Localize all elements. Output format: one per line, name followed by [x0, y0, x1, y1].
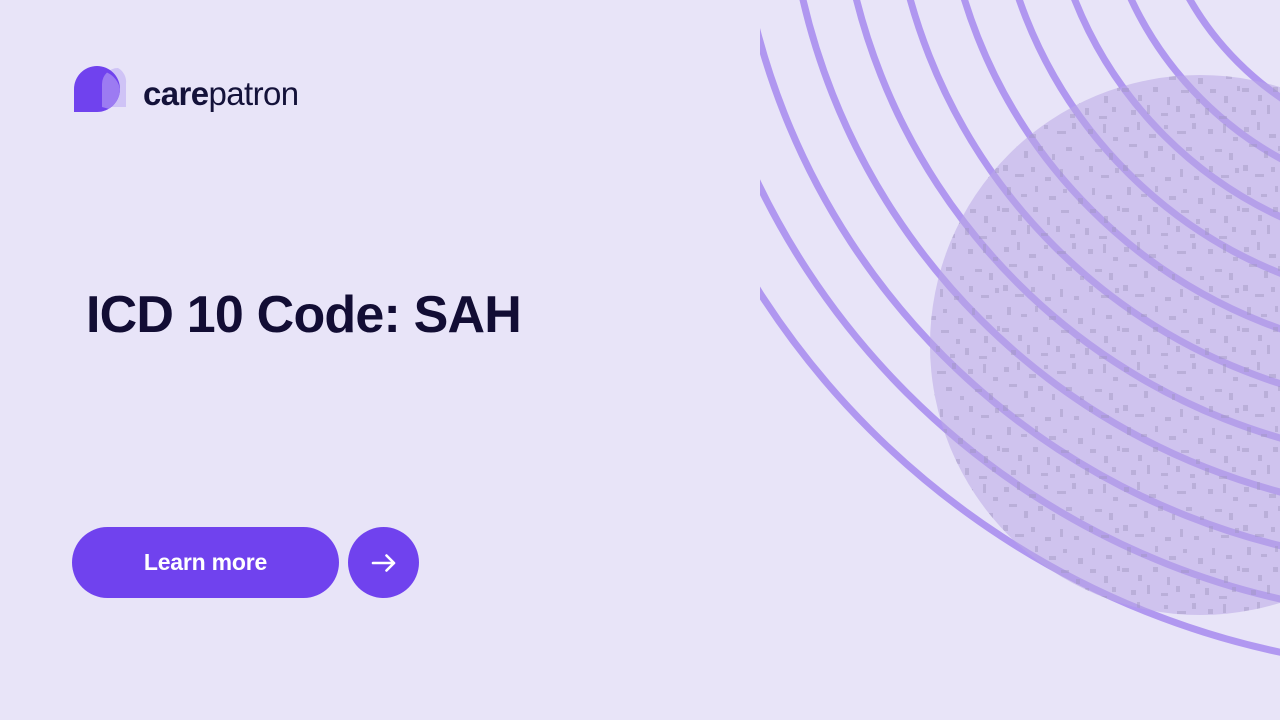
- carepatron-logo-mark-icon: [72, 64, 130, 120]
- brand-wordmark: carepatron: [143, 77, 299, 110]
- promo-banner: carepatron ICD 10 Code: SAH Learn more: [0, 0, 1280, 720]
- decorative-artwork: [760, 0, 1280, 720]
- wordmark-light: patron: [209, 75, 299, 112]
- cta-group: Learn more: [72, 527, 419, 598]
- page-title: ICD 10 Code: SAH: [86, 285, 726, 346]
- wordmark-bold: care: [143, 75, 209, 112]
- arrow-right-button[interactable]: [348, 527, 419, 598]
- arrow-right-icon: [367, 546, 401, 580]
- learn-more-button[interactable]: Learn more: [72, 527, 339, 598]
- brand-logo[interactable]: carepatron: [72, 64, 299, 120]
